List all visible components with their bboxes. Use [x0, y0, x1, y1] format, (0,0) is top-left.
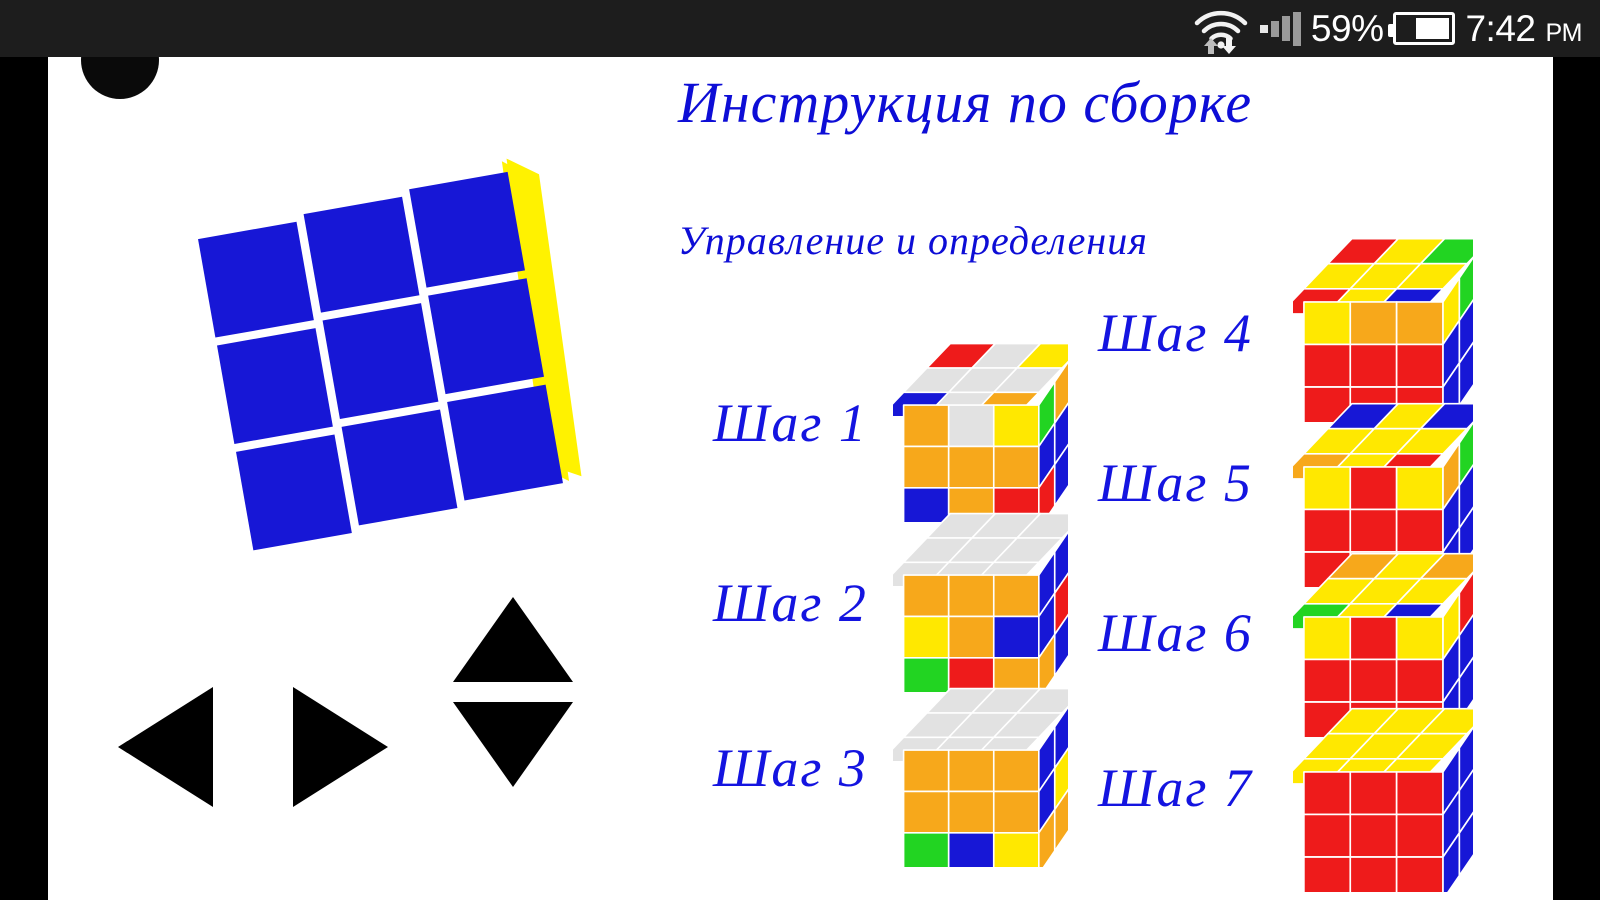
instruction-page: Инструкция по сборке Управление и опреде…: [48, 57, 1553, 900]
battery-icon: [1393, 12, 1455, 45]
cube-step-3[interactable]: [893, 687, 1068, 867]
arrow-up-icon[interactable]: [453, 597, 573, 682]
section-subtitle: Управление и определения: [678, 217, 1148, 264]
signal-bars-icon: [1260, 12, 1301, 46]
data-transfer-icon: [1204, 38, 1218, 54]
step-label-4: Шаг 4: [1098, 302, 1253, 364]
phone-screen: 59% 7:42 PM Инструкция по сборке Управле…: [0, 0, 1600, 900]
wifi-icon: [1192, 4, 1250, 54]
step-label-7: Шаг 7: [1098, 757, 1253, 819]
cube-step-2[interactable]: [893, 512, 1068, 692]
status-bar: 59% 7:42 PM: [0, 0, 1600, 57]
step-label-6: Шаг 6: [1098, 602, 1253, 664]
step-label-5: Шаг 5: [1098, 452, 1253, 514]
step-label-3: Шаг 3: [713, 737, 868, 799]
rubiks-face-blue: [178, 157, 598, 577]
cube-step-7[interactable]: [1293, 707, 1473, 892]
cube-step-1[interactable]: [893, 342, 1068, 522]
arrow-left-icon[interactable]: [118, 687, 213, 807]
clock-meridiem: PM: [1546, 12, 1583, 46]
step-label-1: Шаг 1: [713, 392, 868, 454]
battery-percent-label: 59%: [1311, 10, 1384, 47]
page-title: Инструкция по сборке: [678, 69, 1252, 136]
camera-cutout-icon: [81, 57, 159, 99]
clock-time: 7:42: [1465, 10, 1535, 47]
step-label-2: Шаг 2: [713, 572, 868, 634]
cube-step-4[interactable]: [1293, 237, 1473, 422]
arrow-down-icon[interactable]: [453, 702, 573, 787]
arrow-right-icon[interactable]: [293, 687, 388, 807]
